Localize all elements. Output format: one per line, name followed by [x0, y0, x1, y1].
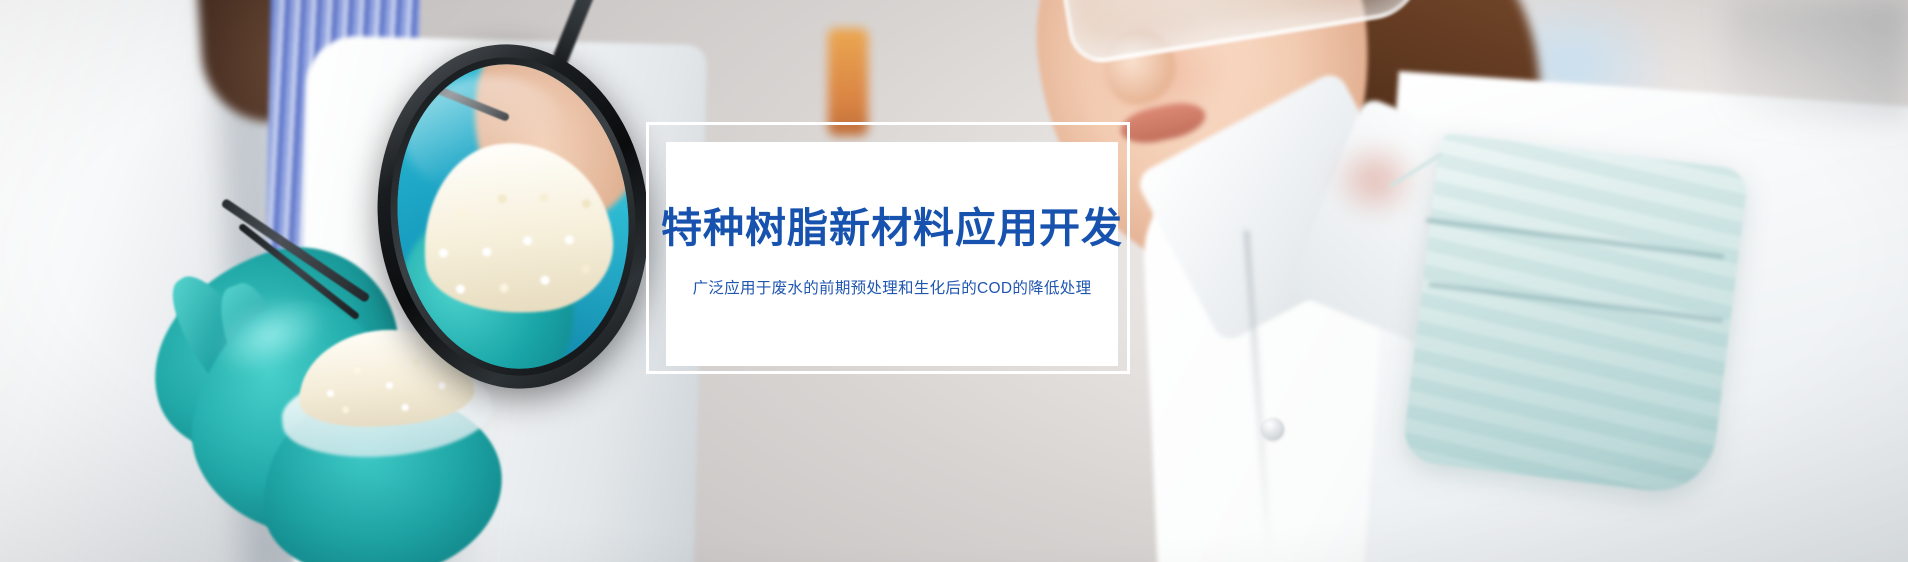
promo-banner: 特种树脂新材料应用开发 广泛应用于废水的前期预处理和生化后的COD的降低处理: [0, 0, 1908, 562]
text-card: 特种树脂新材料应用开发 广泛应用于废水的前期预处理和生化后的COD的降低处理: [666, 142, 1118, 366]
banner-subtitle: 广泛应用于废水的前期预处理和生化后的COD的降低处理: [693, 279, 1092, 299]
banner-title: 特种树脂新材料应用开发: [661, 208, 1123, 249]
